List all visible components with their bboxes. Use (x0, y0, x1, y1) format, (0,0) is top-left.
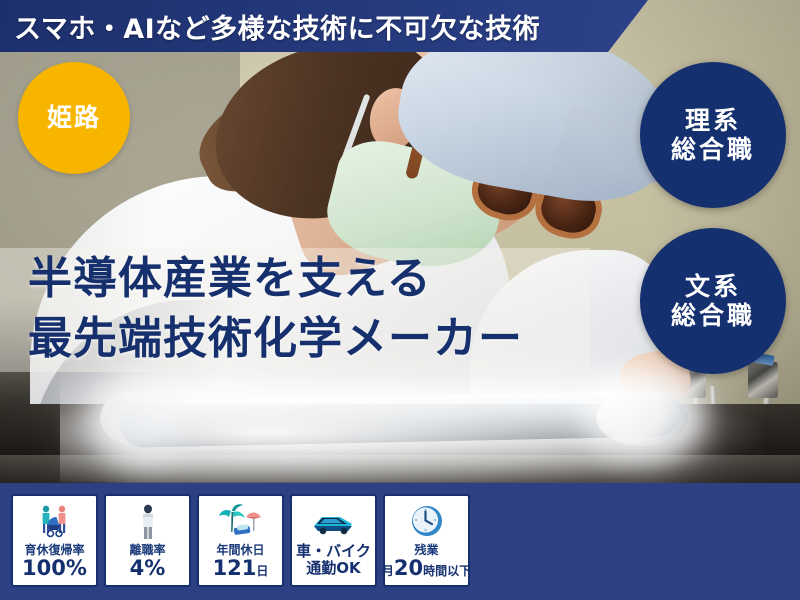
benefits-card-list: 育休復帰率 100% 離職率 4% (11, 494, 470, 587)
recruitment-banner: スマホ・AIなど多様な技術に不可欠な技術 姫路 理系 総合職 文系 総合職 半導… (0, 0, 800, 600)
person-standing-icon (133, 501, 163, 543)
badge-location-label: 姫路 (47, 103, 101, 133)
benefit-value: 4% (130, 557, 166, 580)
benefit-value-suffix: 時間以下 (423, 564, 471, 578)
top-ribbon: スマホ・AIなど多様な技術に不可欠な技術 (0, 0, 648, 52)
headline-line-1: 半導体産業を支える (28, 250, 588, 308)
benefit-value-wrap: 月20時間以下 (382, 557, 471, 580)
benefit-value: 通勤OK (306, 560, 360, 577)
badge-location: 姫路 (18, 62, 130, 174)
benefit-card-annual-holidays: 年間休日 121日 (197, 494, 284, 587)
family-stroller-icon (32, 501, 78, 543)
benefit-card-childcare-return: 育休復帰率 100% (11, 494, 98, 587)
page-title: 半導体産業を支える 最先端技術化学メーカー (28, 250, 588, 368)
badge-humanities-track: 文系 総合職 (640, 228, 786, 374)
car-icon (308, 501, 360, 543)
beach-vacation-icon (216, 501, 266, 543)
benefit-value-wrap: 121日 (213, 557, 269, 580)
badge-science-line1: 理系 (685, 106, 741, 136)
benefit-value: 121 (213, 556, 257, 580)
headline-line-2: 最先端技術化学メーカー (28, 310, 588, 368)
badge-science-track: 理系 総合職 (640, 62, 786, 208)
benefit-value: 100% (22, 557, 87, 580)
benefit-value-suffix: 日 (256, 564, 268, 578)
ribbon-text: スマホ・AIなど多様な技術に不可欠な技術 (0, 7, 540, 46)
benefit-card-commute: 車・バイク 通勤OK (290, 494, 377, 587)
benefit-card-turnover: 離職率 4% (104, 494, 191, 587)
badge-science-line2: 総合職 (671, 135, 755, 165)
benefit-value-prefix: 月 (382, 564, 394, 578)
benefit-label: 車・バイク (296, 543, 371, 560)
clock-icon (407, 501, 447, 543)
badge-humanities-line2: 総合職 (671, 301, 755, 331)
badge-humanities-line1: 文系 (685, 272, 741, 302)
benefit-card-overtime: 残業 月20時間以下 (383, 494, 470, 587)
benefits-bar: 育休復帰率 100% 離職率 4% (0, 483, 800, 600)
benefit-value: 20 (394, 556, 423, 580)
